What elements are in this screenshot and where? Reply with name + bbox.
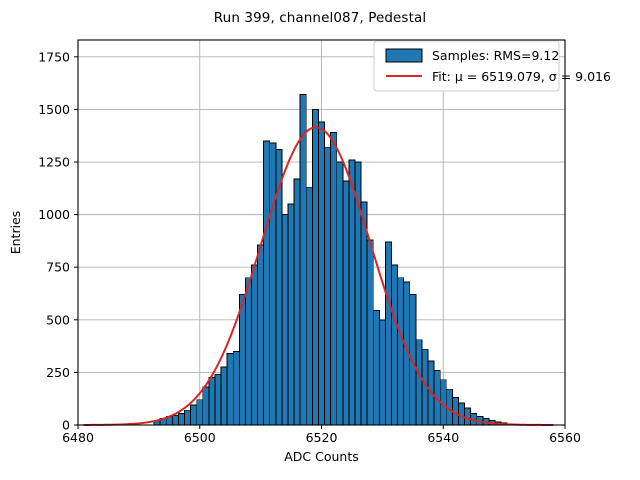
- y-tick-label: 1000: [38, 207, 70, 222]
- y-tick-label: 250: [46, 365, 70, 380]
- legend-box: Samples: RMS=9.12Fit: μ = 6519.079, σ = …: [374, 41, 611, 91]
- y-tick-label: 500: [46, 312, 70, 327]
- legend-entry-samples: Samples: RMS=9.12: [432, 48, 559, 63]
- x-tick-label: 6520: [306, 430, 338, 445]
- y-axis-label: Entries: [8, 211, 23, 255]
- y-tick-label: 1250: [38, 155, 70, 170]
- y-tick-label: 750: [46, 260, 70, 275]
- y-tick-label: 0: [62, 418, 70, 433]
- x-axis-label: ADC Counts: [284, 449, 359, 464]
- x-tick-label: 6500: [184, 430, 216, 445]
- y-tick-label: 1500: [38, 102, 70, 117]
- figure-canvas: Run 399, channel087, Pedestal 6480650065…: [0, 0, 640, 480]
- y-tick-label: 1750: [38, 49, 70, 64]
- legend-entry-fit: Fit: μ = 6519.079, σ = 9.016: [432, 69, 611, 84]
- x-tick-label: 6540: [427, 430, 459, 445]
- x-tick-label: 6560: [549, 430, 581, 445]
- histogram-plot: 6480650065206540656002505007501000125015…: [0, 0, 640, 480]
